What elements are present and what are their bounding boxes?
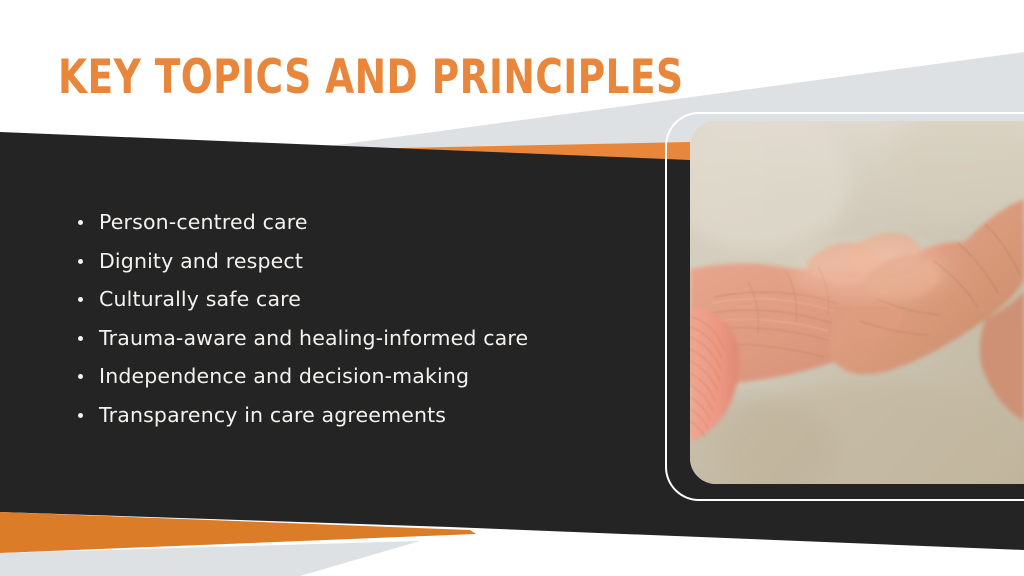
caregiver-holding-elderly-hands-photo — [690, 121, 1024, 484]
list-item-label: Transparency in care agreements — [99, 403, 446, 427]
page-title: Key Topics and Principles — [58, 52, 666, 104]
list-item: Culturally safe care — [72, 280, 632, 319]
list-item: Dignity and respect — [72, 242, 632, 281]
list-item-label: Dignity and respect — [99, 249, 303, 273]
page-title-block: Key Topics and Principles — [58, 52, 818, 108]
bullet-dot-icon — [78, 374, 83, 379]
bullet-dot-icon — [78, 220, 83, 225]
bullet-dot-icon — [78, 336, 83, 341]
list-item-label: Independence and decision-making — [99, 364, 469, 388]
list-item: Independence and decision-making — [72, 357, 632, 396]
list-item-label: Trauma-aware and healing-informed care — [99, 326, 528, 350]
key-topics-bullet-list: Person-centred care Dignity and respect … — [72, 203, 632, 435]
slide: Key Topics and Principles Person-centred… — [0, 0, 1024, 576]
list-item-label: Culturally safe care — [99, 287, 301, 311]
list-item: Trauma-aware and healing-informed care — [72, 319, 632, 358]
list-item-label: Person-centred care — [99, 210, 308, 234]
list-item: Person-centred care — [72, 203, 632, 242]
bullet-dot-icon — [78, 297, 83, 302]
bullet-dot-icon — [78, 413, 83, 418]
bullet-dot-icon — [78, 259, 83, 264]
list-item: Transparency in care agreements — [72, 396, 632, 435]
